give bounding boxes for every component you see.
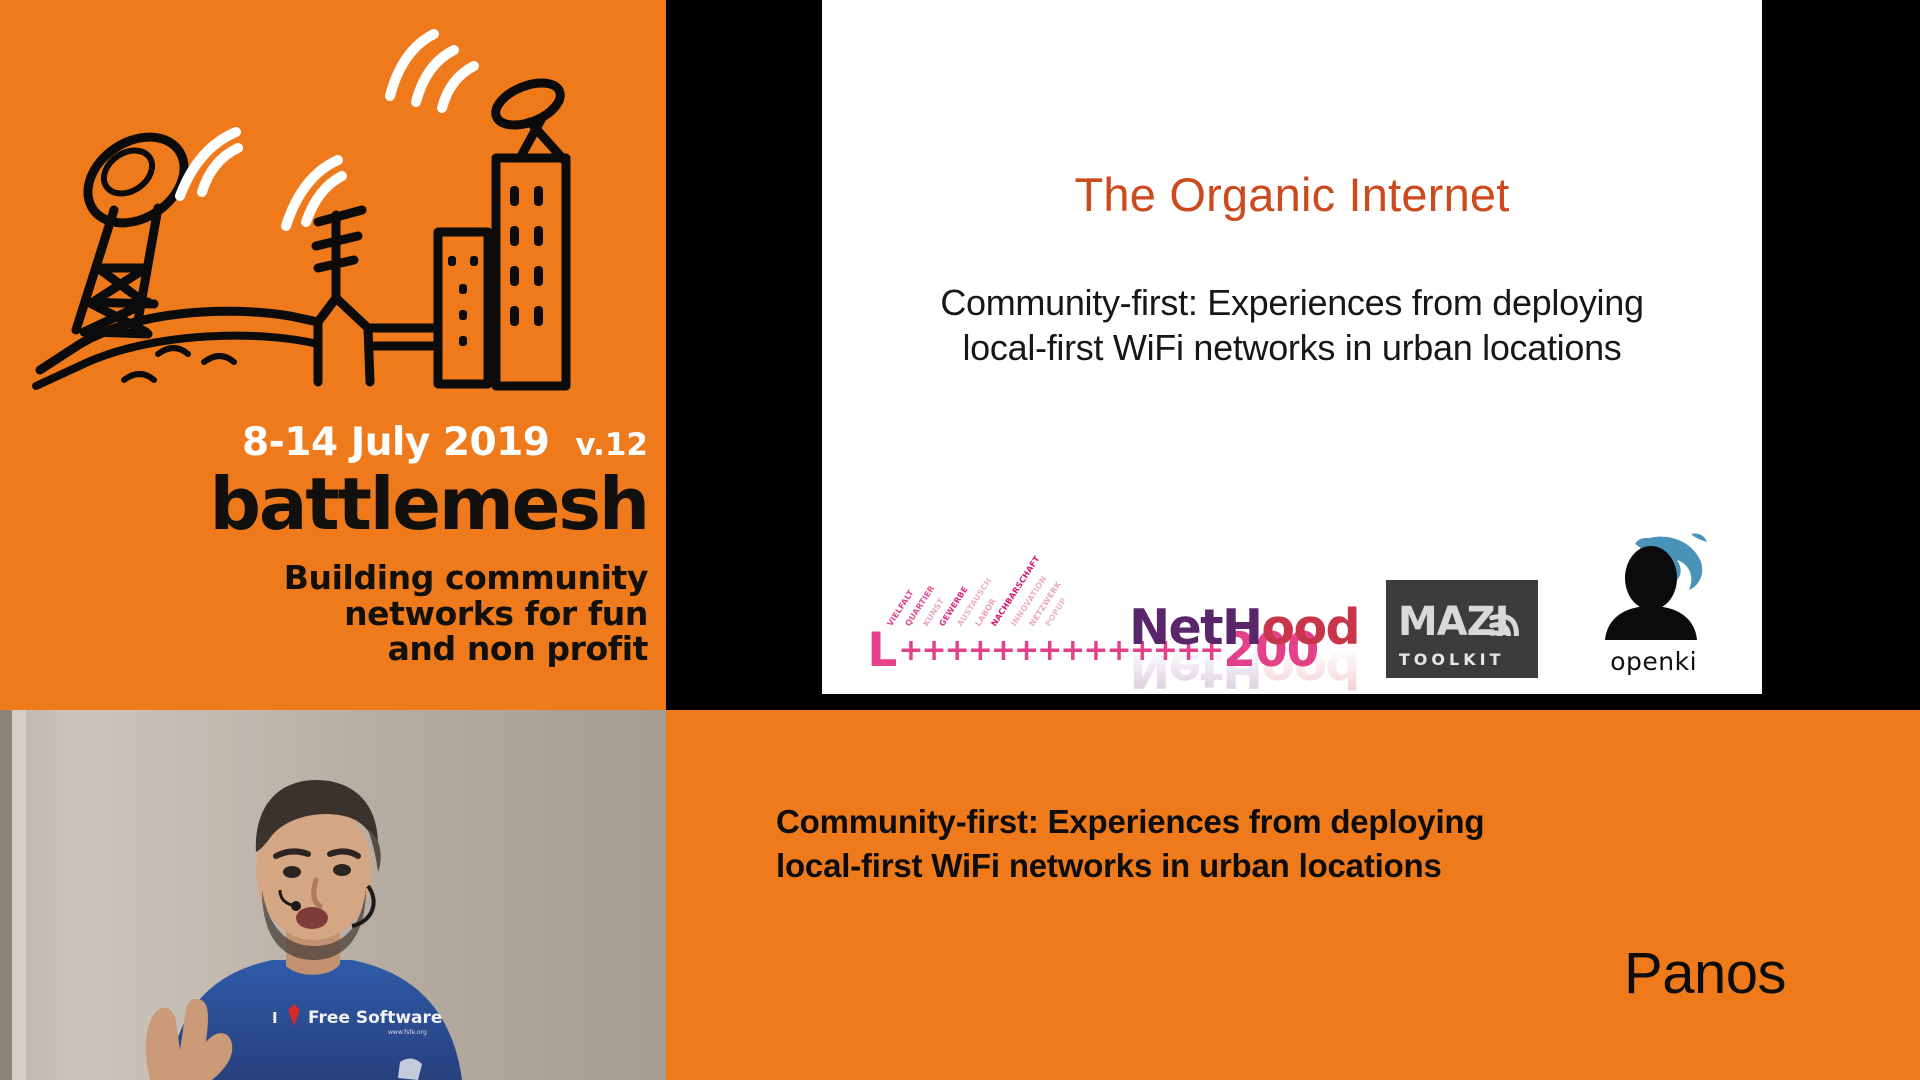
openki-avatar-flame-icon xyxy=(1591,530,1711,642)
slide-subtitle-line1: Community-first: Experiences from deploy… xyxy=(862,280,1722,325)
logo-l200: VIELFALT QUARTIER KUNST GEWERBE AUSTAUSC… xyxy=(867,566,1082,678)
speaker-webcam: I Free Software www.fsfe.org xyxy=(0,710,666,1080)
wifi-icon xyxy=(1482,596,1526,636)
speaker-video-frame: I Free Software www.fsfe.org xyxy=(0,710,666,1080)
presentation-stage: 8-14 July 2019v.12 battlemesh Building c… xyxy=(0,0,1920,1080)
talk-speaker-name: Panos xyxy=(666,940,1786,1007)
poster-tagline-line1: Building community xyxy=(0,560,648,596)
openki-wordmark: openki xyxy=(1595,647,1713,676)
poster-event-name: battlemesh xyxy=(0,468,648,540)
battlemesh-skyline-illustration xyxy=(18,10,648,400)
nethood-reflection-a: NetH xyxy=(1129,641,1261,694)
talk-caption-panel: Community-first: Experiences from deploy… xyxy=(666,710,1920,1080)
talk-title-line1: Community-first: Experiences from deploy… xyxy=(776,800,1786,844)
conference-poster: 8-14 July 2019v.12 battlemesh Building c… xyxy=(0,0,666,710)
slide-subtitle-line2: local-first WiFi networks in urban locat… xyxy=(862,325,1722,370)
slide-subtitle: Community-first: Experiences from deploy… xyxy=(862,280,1722,371)
logo-mazi-toolkit: MAZI TOOLKIT xyxy=(1386,580,1538,678)
poster-tagline-line3: and non profit xyxy=(0,631,648,667)
slide-logo-strip: VIELFALT QUARTIER KUNST GEWERBE AUSTAUSC… xyxy=(822,528,1762,678)
svg-text:www.fsfe.org: www.fsfe.org xyxy=(388,1029,427,1036)
talk-title-line2: local-first WiFi networks in urban locat… xyxy=(776,844,1786,888)
l200-letter: L xyxy=(867,627,896,674)
slide-letterbox: The Organic Internet Community-first: Ex… xyxy=(666,0,1920,710)
logo-nethood: NetHood NetHood xyxy=(1129,573,1339,678)
logo-openki: openki xyxy=(1585,530,1717,678)
poster-tagline: Building community networks for fun and … xyxy=(0,560,648,667)
poster-tagline-line2: networks for fun xyxy=(0,596,648,632)
poster-date: 8-14 July 2019v.12 xyxy=(0,420,648,465)
nethood-reflection-b: ood xyxy=(1261,641,1359,694)
poster-version: v.12 xyxy=(575,427,648,463)
nethood-reflection: NetHood xyxy=(1129,645,1359,694)
l200-keywords: VIELFALT QUARTIER KUNST GEWERBE AUSTAUSC… xyxy=(891,568,1071,630)
talk-title: Community-first: Experiences from deploy… xyxy=(776,800,1786,887)
mazi-subtitle: TOOLKIT xyxy=(1399,652,1505,668)
poster-date-text: 8-14 July 2019 xyxy=(242,420,549,465)
svg-text:I: I xyxy=(272,1009,278,1027)
svg-text:Free Software: Free Software xyxy=(308,1008,442,1028)
presentation-slide: The Organic Internet Community-first: Ex… xyxy=(822,0,1762,694)
slide-title: The Organic Internet xyxy=(822,167,1762,222)
